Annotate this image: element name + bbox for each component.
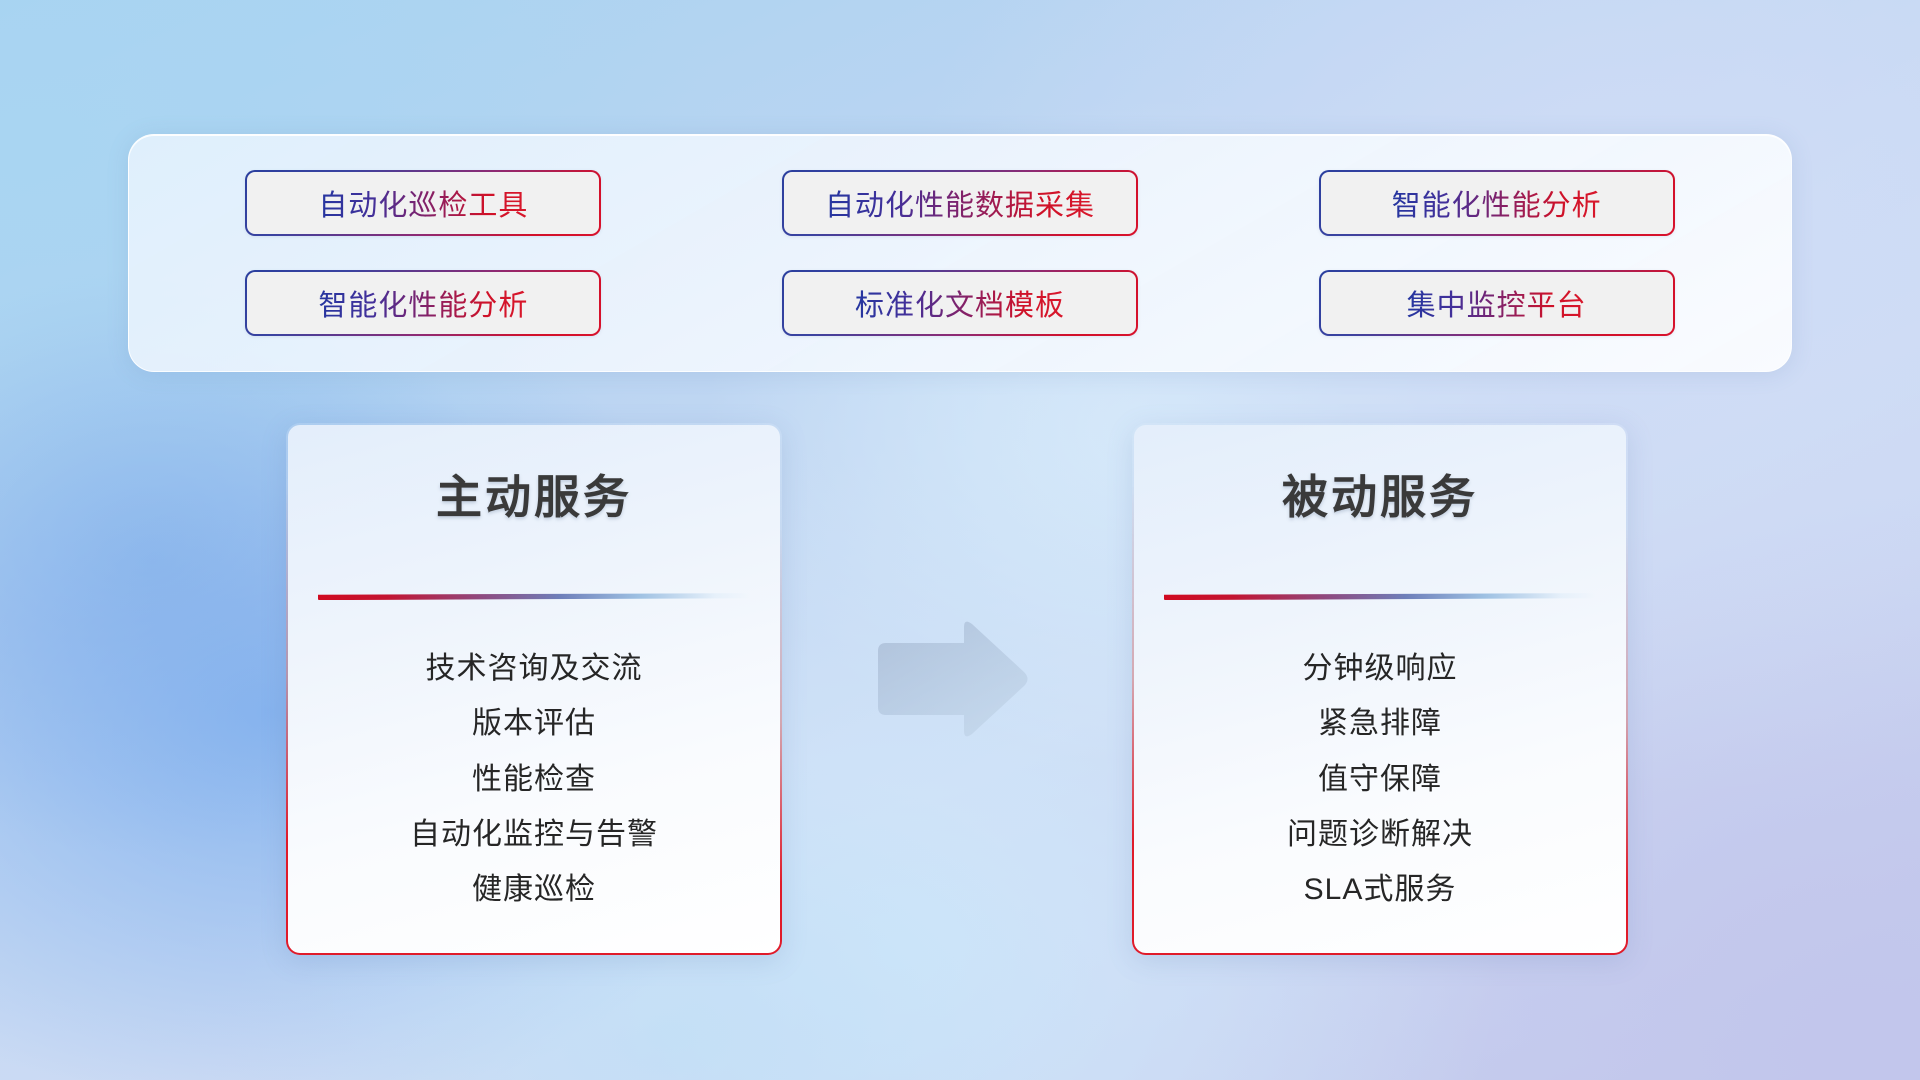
list-item: 分钟级响应: [1160, 651, 1600, 687]
capability-pill-label: 自动化巡检工具: [318, 182, 528, 224]
capability-pill[interactable]: 智能化性能分析: [245, 270, 601, 336]
proactive-service-card: 主动服务 技术咨询及交流 版本评估 性能检查 自动化监控与告警 健康巡检: [286, 423, 782, 955]
card-divider: [318, 593, 750, 600]
arrow-right-icon: [872, 617, 1032, 741]
list-item: SLA式服务: [1160, 872, 1600, 908]
list-item: 自动化监控与告警: [314, 817, 754, 853]
list-item: 问题诊断解决: [1160, 817, 1600, 853]
capability-pill-label: 标准化文档模板: [855, 282, 1065, 324]
capability-pill[interactable]: 自动化性能数据采集: [782, 170, 1138, 236]
reactive-card-title: 被动服务: [1160, 461, 1600, 527]
list-item: 性能检查: [314, 762, 754, 798]
capability-pill[interactable]: 智能化性能分析: [1319, 170, 1675, 236]
capabilities-panel: 自动化巡检工具 自动化性能数据采集 智能化性能分析 智能化性能分析 标准化文档模…: [128, 134, 1792, 372]
reactive-service-list: 分钟级响应 紧急排障 值守保障 问题诊断解决 SLA式服务: [1160, 606, 1600, 927]
capability-pill-label: 自动化性能数据采集: [825, 182, 1095, 224]
proactive-card-title: 主动服务: [314, 461, 754, 527]
card-divider: [1164, 593, 1596, 600]
list-item: 值守保障: [1160, 762, 1600, 798]
capability-pill-label: 集中监控平台: [1407, 282, 1587, 324]
list-item: 版本评估: [314, 706, 754, 742]
proactive-service-list: 技术咨询及交流 版本评估 性能检查 自动化监控与告警 健康巡检: [314, 606, 754, 927]
capability-pill[interactable]: 集中监控平台: [1319, 270, 1675, 336]
capability-pill-label: 智能化性能分析: [1392, 182, 1602, 224]
list-item: 技术咨询及交流: [314, 651, 754, 687]
list-item: 健康巡检: [314, 872, 754, 908]
reactive-service-card: 被动服务 分钟级响应 紧急排障 值守保障 问题诊断解决 SLA式服务: [1132, 423, 1628, 955]
capability-pill[interactable]: 标准化文档模板: [782, 270, 1138, 336]
capability-pill[interactable]: 自动化巡检工具: [245, 170, 601, 236]
list-item: 紧急排障: [1160, 706, 1600, 742]
capability-pill-label: 智能化性能分析: [318, 282, 528, 324]
